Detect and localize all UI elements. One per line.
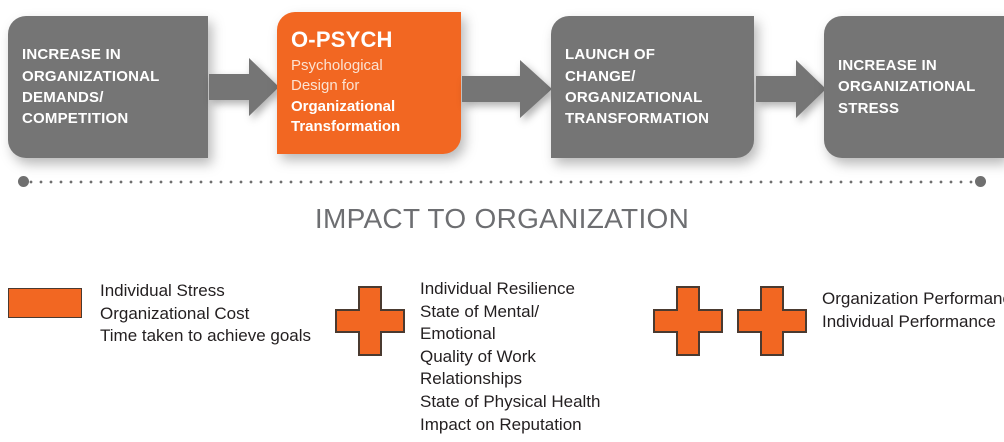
- flow-box-line: ORGANIZATIONAL: [838, 76, 990, 97]
- legend-item: Individual Stress: [100, 280, 311, 303]
- flow-box-inner: O-PSYCH Psychological Design for Organiz…: [277, 28, 461, 137]
- legend-item: State of Physical Health: [420, 391, 600, 414]
- flow-box-inner: LAUNCH OF CHANGE/ ORGANIZATIONAL TRANSFO…: [551, 44, 754, 129]
- legend-group-decrease: Individual Stress Organizational Cost Ti…: [8, 278, 311, 348]
- flow-box-launch-of-change: LAUNCH OF CHANGE/ ORGANIZATIONAL TRANSFO…: [551, 16, 754, 158]
- flow-box-o-psych: O-PSYCH Psychological Design for Organiz…: [277, 12, 461, 154]
- legend-item: Relationships: [420, 368, 600, 391]
- legend-item: Time taken to achieve goals: [100, 325, 311, 348]
- legend-item: Organizational Cost: [100, 303, 311, 326]
- o-psych-subline: Design for: [291, 76, 447, 96]
- flow-box-increase-stress: INCREASE IN ORGANIZATIONAL STRESS: [824, 16, 1004, 158]
- minus-icon: [8, 288, 82, 318]
- right-arrow-icon: [756, 58, 826, 120]
- right-arrow-icon: [462, 58, 552, 120]
- divider-end-dot-right: [975, 176, 986, 187]
- flow-box-line: TRANSFORMATION: [565, 108, 740, 129]
- flow-box-line: ORGANIZATIONAL: [22, 66, 194, 87]
- legend-item: Emotional: [420, 323, 600, 346]
- o-psych-heading: O-PSYCH: [291, 28, 447, 53]
- legend-item: Impact on Reputation: [420, 414, 600, 437]
- legend-item: Organization Performance: [822, 288, 1004, 311]
- flow-box-line: CHANGE/: [565, 66, 740, 87]
- plus-icon: [652, 285, 724, 357]
- plus-icon: [334, 285, 406, 357]
- right-arrow-icon: [209, 56, 279, 118]
- flow-box-inner: INCREASE IN ORGANIZATIONAL DEMANDS/ COMP…: [8, 44, 208, 129]
- flow-box-increase-demands: INCREASE IN ORGANIZATIONAL DEMANDS/ COMP…: [8, 16, 208, 158]
- flow-box-line: INCREASE IN: [838, 55, 990, 76]
- flow-box-inner: INCREASE IN ORGANIZATIONAL STRESS: [824, 55, 1004, 119]
- legend-text-block: Individual Resilience State of Mental/ E…: [420, 278, 600, 436]
- legend-glyph-wrap: [652, 278, 808, 357]
- flow-box-label: LAUNCH OF CHANGE/ ORGANIZATIONAL TRANSFO…: [565, 44, 740, 129]
- o-psych-strongline: Organizational: [291, 97, 447, 117]
- legend-text-block: Organization Performance Individual Perf…: [822, 288, 1004, 333]
- divider-dotted-line: [26, 180, 978, 184]
- flow-box-line: DEMANDS/: [22, 87, 194, 108]
- dotted-divider: [18, 176, 986, 188]
- legend-glyph-wrap: [8, 278, 82, 318]
- legend-group-increase-double: Organization Performance Individual Perf…: [652, 278, 1004, 357]
- flow-box-line: ORGANIZATIONAL: [565, 87, 740, 108]
- section-title: IMPACT TO ORGANIZATION: [0, 203, 1004, 235]
- flow-box-label: INCREASE IN ORGANIZATIONAL DEMANDS/ COMP…: [22, 44, 194, 129]
- legend-item: Individual Resilience: [420, 278, 600, 301]
- o-psych-subline: Psychological: [291, 56, 447, 76]
- legend-group-increase-single: Individual Resilience State of Mental/ E…: [334, 278, 600, 436]
- legend-item: State of Mental/: [420, 301, 600, 324]
- legend-text-block: Individual Stress Organizational Cost Ti…: [100, 280, 311, 348]
- infographic-canvas: INCREASE IN ORGANIZATIONAL DEMANDS/ COMP…: [0, 0, 1004, 442]
- legend-item: Individual Performance: [822, 311, 1004, 334]
- plus-icon: [736, 285, 808, 357]
- o-psych-strongline: Transformation: [291, 117, 447, 137]
- legend-glyph-wrap: [334, 278, 406, 357]
- flow-box-line: INCREASE IN: [22, 44, 194, 65]
- flow-box-line: STRESS: [838, 98, 990, 119]
- flow-box-line: COMPETITION: [22, 108, 194, 129]
- legend-item: Quality of Work: [420, 346, 600, 369]
- flow-box-label: INCREASE IN ORGANIZATIONAL STRESS: [838, 55, 990, 119]
- flow-box-line: LAUNCH OF: [565, 44, 740, 65]
